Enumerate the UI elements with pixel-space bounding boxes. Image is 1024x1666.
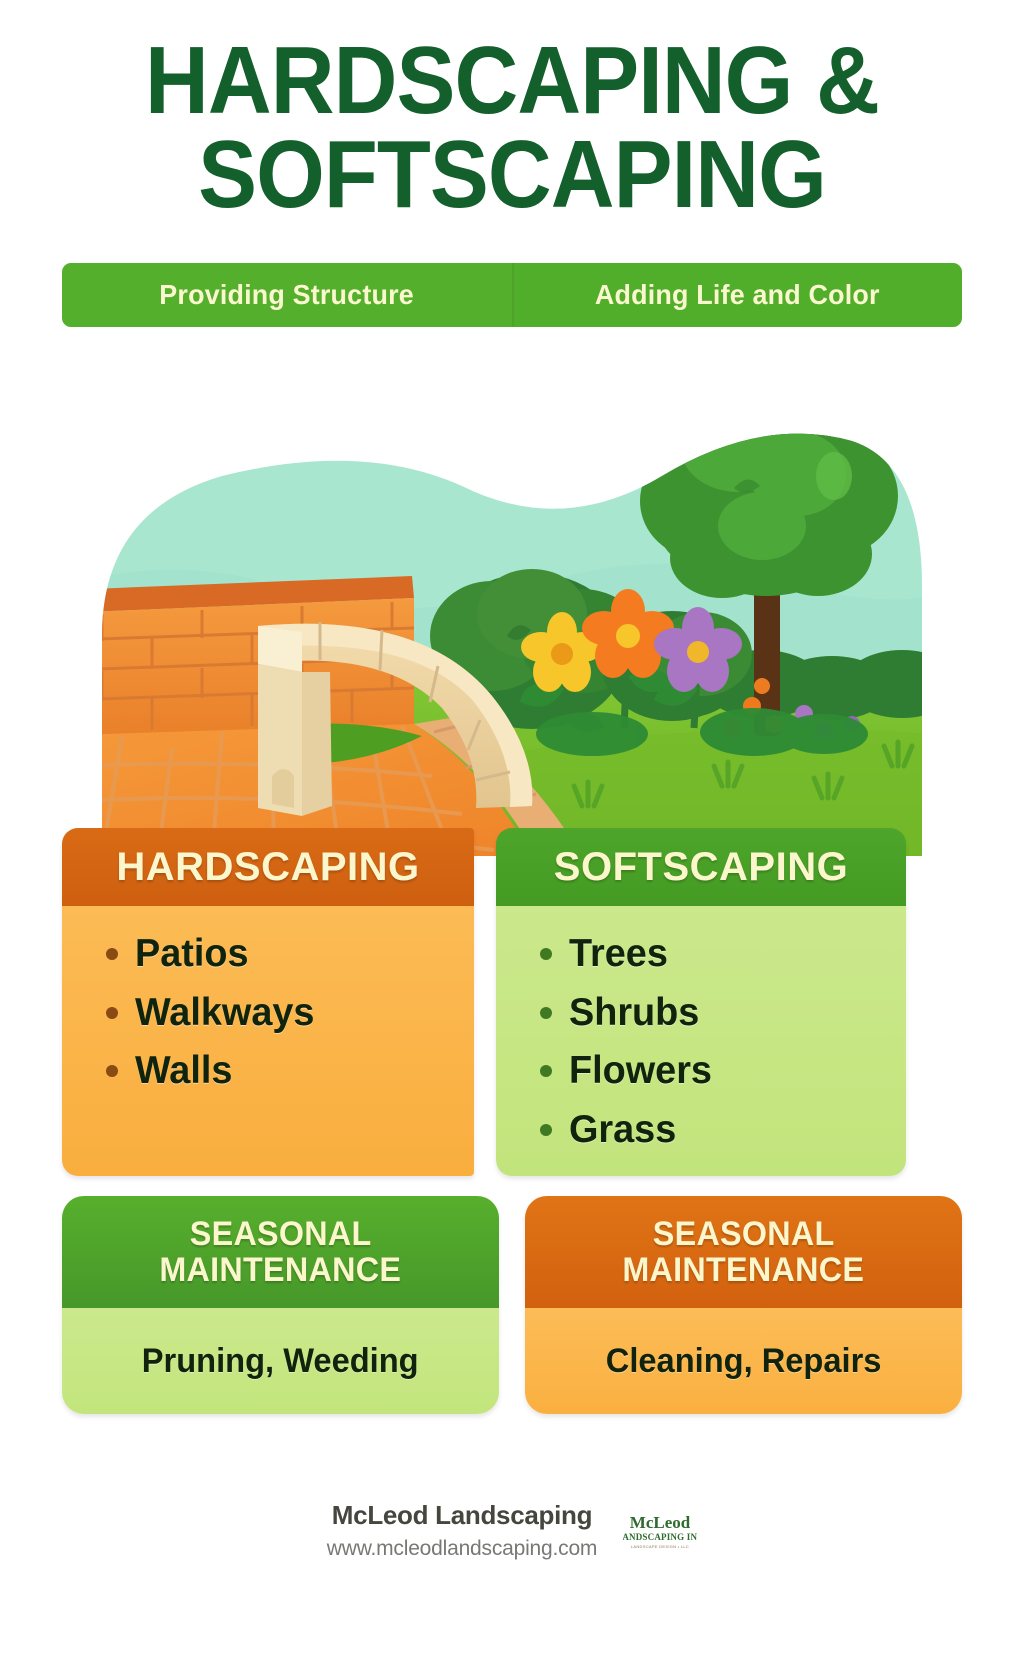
maintenance-softscaping-heading: SEASONAL MAINTENANCE [62,1196,499,1308]
maintenance-heading-line-1: SEASONAL [653,1216,835,1252]
stone-wall-side [302,672,332,816]
page-title-line-1: HARDSCAPING & [41,34,983,128]
subtitle-left: Providing Structure [62,263,512,327]
bullet-dot-icon [540,1124,552,1136]
card-softscaping-body: Trees Shrubs Flowers Grass [496,906,906,1176]
subtitle-left-label: Providing Structure [160,279,415,311]
list-item-label: Patios [135,934,249,975]
list-item-label: Shrubs [569,993,699,1034]
list-item: Walkways [106,993,474,1034]
list-item: Trees [540,934,906,975]
list-item-label: Trees [569,934,668,975]
maintenance-heading-line-1: SEASONAL [190,1216,372,1252]
maintenance-heading-line-2: MAINTENANCE [160,1252,402,1288]
svg-text:McLeod: McLeod [630,1513,691,1532]
page-title: HARDSCAPING & SOFTSCAPING [0,34,1024,222]
subtitle-right: Adding Life and Color [512,263,962,327]
list-item-label: Walkways [135,993,314,1034]
list-item-label: Grass [569,1110,676,1151]
footer-text: McLeod Landscaping www.mcleodlandscaping… [327,1500,597,1561]
maintenance-softscaping-label: Pruning, Weeding [142,1342,419,1381]
maintenance-hardscaping-label: Cleaning, Repairs [606,1342,882,1381]
bullet-dot-icon [106,948,118,960]
card-hardscaping-heading: HARDSCAPING [62,828,474,906]
yard-illustration [62,336,962,856]
bullet-dot-icon [540,948,552,960]
card-maintenance-softscaping: SEASONAL MAINTENANCE Pruning, Weeding [62,1196,499,1414]
scene-contents [62,336,962,856]
bullet-dot-icon [106,1007,118,1019]
category-cards: HARDSCAPING Patios Walkways Walls [62,828,962,1176]
mcleod-landscaping-logo-icon: McLeod LANDSCAPING INC LANDSCAPE DESIGN … [623,1508,697,1554]
infographic-poster: HARDSCAPING & SOFTSCAPING Providing Stru… [0,0,1024,1666]
footer: McLeod Landscaping www.mcleodlandscaping… [0,1500,1024,1561]
bullet-dot-icon [106,1065,118,1077]
subtitle-right-label: Adding Life and Color [595,279,880,311]
maintenance-cards: SEASONAL MAINTENANCE Pruning, Weeding SE… [62,1196,962,1414]
list-item-label: Walls [135,1051,232,1092]
bullet-dot-icon [540,1007,552,1019]
card-softscaping-heading: SOFTSCAPING [496,828,906,906]
card-softscaping: SOFTSCAPING Trees Shrubs Flowers [496,828,906,1176]
card-hardscaping: HARDSCAPING Patios Walkways Walls [62,828,474,1176]
footer-website-url[interactable]: www.mcleodlandscaping.com [327,1537,597,1561]
maintenance-hardscaping-heading: SEASONAL MAINTENANCE [525,1196,962,1308]
maintenance-heading-line-2: MAINTENANCE [623,1252,865,1288]
softscaping-list: Trees Shrubs Flowers Grass [540,934,906,1150]
list-item: Patios [106,934,474,975]
subtitle-bar: Providing Structure Adding Life and Colo… [62,263,962,327]
svg-text:LANDSCAPING INC: LANDSCAPING INC [623,1532,697,1542]
page-title-line-2: SOFTSCAPING [41,128,983,222]
footer-brand-name: McLeod Landscaping [327,1500,597,1531]
stone-wall-cap [258,626,302,672]
card-hardscaping-body: Patios Walkways Walls [62,906,474,1176]
card-maintenance-hardscaping: SEASONAL MAINTENANCE Cleaning, Repairs [525,1196,962,1414]
list-item: Flowers [540,1051,906,1092]
hardscaping-list: Patios Walkways Walls [106,934,474,1092]
maintenance-softscaping-body: Pruning, Weeding [62,1308,499,1414]
list-item: Shrubs [540,993,906,1034]
list-item: Grass [540,1110,906,1151]
list-item-label: Flowers [569,1051,712,1092]
bullet-dot-icon [540,1065,552,1077]
list-item: Walls [106,1051,474,1092]
svg-text:LANDSCAPE DESIGN • LLC: LANDSCAPE DESIGN • LLC [631,1544,689,1549]
maintenance-hardscaping-body: Cleaning, Repairs [525,1308,962,1414]
